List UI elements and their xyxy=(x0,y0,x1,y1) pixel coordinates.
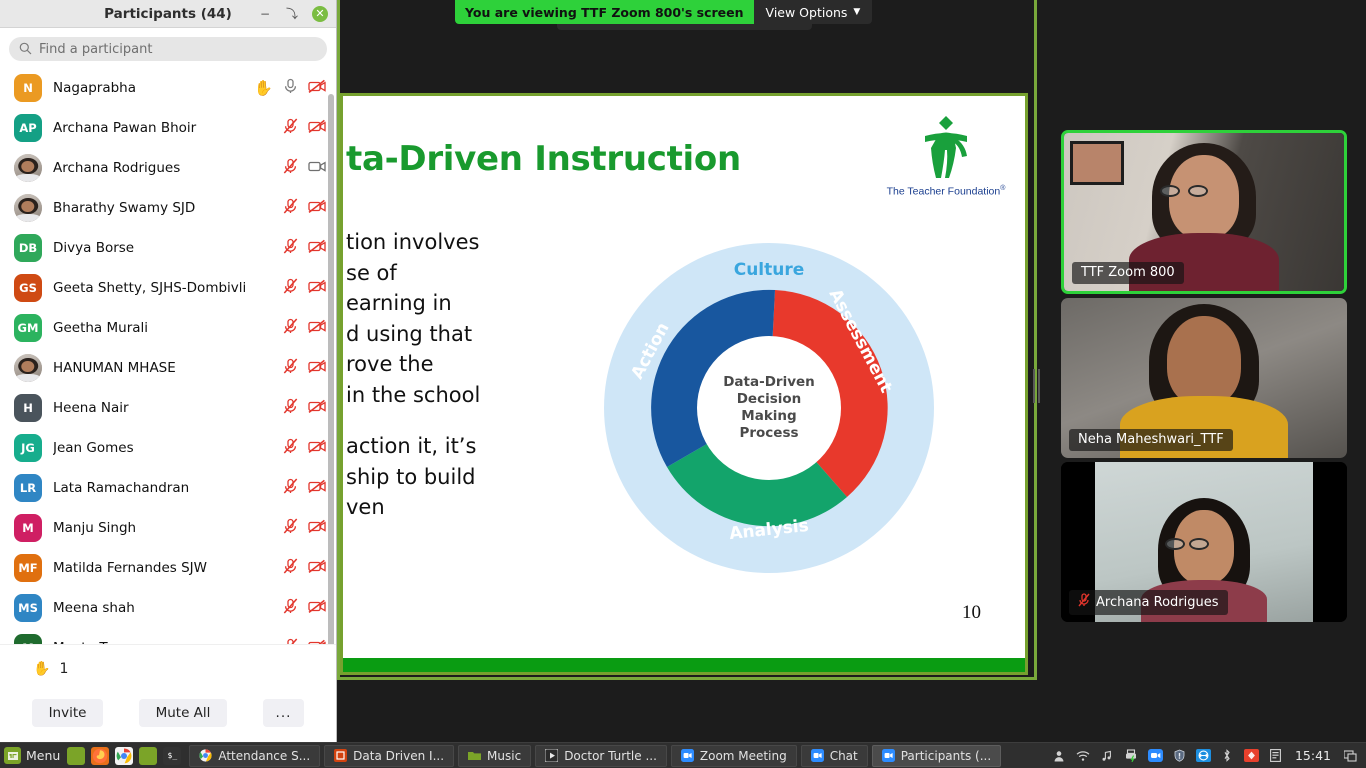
participant-status-icons xyxy=(283,238,326,258)
video-tile-archana-rodrigues[interactable]: Archana Rodrigues xyxy=(1061,462,1347,622)
taskbar-window-button[interactable]: Participants (... xyxy=(872,745,1001,767)
participant-row[interactable]: DBDivya Borse xyxy=(0,228,336,268)
files-icon[interactable] xyxy=(67,747,85,765)
camera-off-icon[interactable] xyxy=(308,119,326,138)
participant-row[interactable]: JGJean Gomes xyxy=(0,428,336,468)
camera-off-icon[interactable] xyxy=(308,279,326,298)
participant-name: Jean Gomes xyxy=(53,440,272,456)
participants-window: Participants (44) − ⤵ ✕ Find a participa… xyxy=(0,0,336,742)
avatar-photo xyxy=(14,154,42,182)
shared-slide: ta-Driven Instruction tion involves se o… xyxy=(340,93,1028,675)
player-icon xyxy=(545,749,558,762)
participant-status-icons xyxy=(283,558,326,578)
participant-row[interactable]: MSMeena shah xyxy=(0,588,336,628)
participant-status-icons xyxy=(283,398,326,418)
terminal-icon[interactable]: $_ xyxy=(163,747,181,765)
participant-status-icons: ✋ xyxy=(254,78,326,98)
avatar-initials: N xyxy=(14,74,42,102)
camera-icon[interactable] xyxy=(308,159,326,178)
video-tile-neha-maheshwari[interactable]: Neha Maheshwari_TTF xyxy=(1061,298,1347,458)
taskbar-window-button[interactable]: Chat xyxy=(801,745,868,767)
taskbar-window-button[interactable]: Attendance S... xyxy=(189,745,320,767)
more-options-button[interactable]: ... xyxy=(263,699,305,727)
restore-button[interactable]: ⤵ xyxy=(285,7,299,21)
participants-titlebar: Participants (44) − ⤵ ✕ xyxy=(0,0,336,28)
wifi-icon[interactable] xyxy=(1076,748,1091,763)
folder-icon[interactable] xyxy=(139,747,157,765)
mic-icon[interactable] xyxy=(283,78,298,98)
invite-button[interactable]: Invite xyxy=(32,699,104,727)
avatar-initials: M xyxy=(14,514,42,542)
music-note-icon[interactable] xyxy=(1100,748,1115,763)
camera-off-icon[interactable] xyxy=(308,79,326,98)
muted-mic-icon[interactable] xyxy=(283,638,298,644)
chrome-icon[interactable] xyxy=(115,747,133,765)
zoom-icon xyxy=(882,749,895,762)
taskbar-window-label: Chat xyxy=(830,749,858,763)
ttf-logo: The Teacher Foundation® xyxy=(866,114,1026,198)
shield-icon[interactable] xyxy=(1172,748,1187,763)
camera-off-icon[interactable] xyxy=(308,639,326,645)
center-line-4: Process xyxy=(739,425,798,442)
avatar-photo xyxy=(14,354,42,382)
teacher-foundation-mark-icon xyxy=(915,114,977,180)
participant-status-icons xyxy=(283,518,326,538)
screen-share-banner: You are viewing TTF Zoom 800's screen Vi… xyxy=(455,0,872,24)
participant-name: Nagaprabha xyxy=(53,80,243,96)
muted-mic-icon[interactable] xyxy=(283,158,298,178)
view-options-button[interactable]: View Options ▼ xyxy=(754,0,873,24)
camera-off-icon[interactable] xyxy=(308,439,326,458)
linux-mint-icon xyxy=(4,747,21,764)
participant-row[interactable]: HANUMAN MHASE xyxy=(0,348,336,388)
taskbar-window-label: Doctor Turtle ... xyxy=(564,749,657,763)
center-line-1: Data-Driven xyxy=(723,374,815,391)
tile-name: TTF Zoom 800 xyxy=(1081,265,1175,280)
participant-row[interactable]: HHeena Nair xyxy=(0,388,336,428)
camera-off-icon[interactable] xyxy=(308,479,326,498)
tile-name-badge: Archana Rodrigues xyxy=(1069,590,1228,615)
avatar-initials: LR xyxy=(14,474,42,502)
participant-name: HANUMAN MHASE xyxy=(53,360,272,376)
muted-mic-icon[interactable] xyxy=(283,358,298,378)
participant-row[interactable]: LRLata Ramachandran xyxy=(0,468,336,508)
taskbar-window-label: Attendance S... xyxy=(218,749,310,763)
avatar-initials: AP xyxy=(14,114,42,142)
ttf-logo-caption: The Teacher Foundation® xyxy=(866,185,1026,198)
muted-mic-icon[interactable] xyxy=(283,598,298,618)
camera-off-icon[interactable] xyxy=(308,519,326,538)
panel-drag-handle[interactable] xyxy=(1032,368,1040,404)
muted-mic-icon[interactable] xyxy=(283,398,298,418)
mute-all-button[interactable]: Mute All xyxy=(139,699,228,727)
taskbar-window-label: Participants (... xyxy=(901,749,991,763)
taskbar-window-button[interactable]: Zoom Meeting xyxy=(671,745,797,767)
diagram-center-text: Data-Driven Decision Making Process xyxy=(697,336,841,480)
muted-mic-icon xyxy=(1078,593,1090,611)
printer-icon[interactable] xyxy=(1124,748,1139,763)
participant-row[interactable]: Bharathy Swamy SJD xyxy=(0,188,336,228)
participant-name: Archana Rodrigues xyxy=(53,160,272,176)
slide-title: ta-Driven Instruction xyxy=(346,139,741,179)
camera-off-icon[interactable] xyxy=(308,239,326,258)
folder-icon xyxy=(468,749,481,762)
participant-row[interactable]: Archana Rodrigues xyxy=(0,148,336,188)
taskbar-window-list: Attendance S...Data Driven I...MusicDoct… xyxy=(189,745,1005,767)
taskbar-window-label: Music xyxy=(487,749,521,763)
taskbar-window-button[interactable]: Doctor Turtle ... xyxy=(535,745,667,767)
teamviewer-icon[interactable] xyxy=(1196,748,1211,763)
participant-list-scrollbar[interactable] xyxy=(328,94,334,644)
taskbar: Menu $_ Attendance S...Data Driven I...M… xyxy=(0,742,1366,768)
bluetooth-icon[interactable] xyxy=(1220,748,1235,763)
muted-mic-icon[interactable] xyxy=(283,518,298,538)
participant-name: Matilda Fernandes SJW xyxy=(53,560,272,576)
muted-mic-icon[interactable] xyxy=(283,278,298,298)
participant-name: Meena shah xyxy=(53,600,272,616)
search-placeholder: Find a participant xyxy=(39,42,152,57)
taskbar-window-button[interactable]: Data Driven I... xyxy=(324,745,454,767)
avatar-photo xyxy=(14,194,42,222)
view-options-label: View Options xyxy=(766,5,848,20)
participant-name: Meetu Tomar xyxy=(53,640,272,644)
camera-off-icon[interactable] xyxy=(308,199,326,218)
participant-status-icons xyxy=(283,478,326,498)
participant-status-icons xyxy=(283,598,326,618)
participant-name: Lata Ramachandran xyxy=(53,480,272,496)
participant-status-icons xyxy=(283,198,326,218)
camera-off-icon[interactable] xyxy=(308,319,326,338)
muted-mic-icon[interactable] xyxy=(283,438,298,458)
share-banner-message: You are viewing TTF Zoom 800's screen xyxy=(455,0,754,24)
raised-hand-icon: ✋ xyxy=(33,661,50,677)
muted-mic-icon[interactable] xyxy=(283,318,298,338)
taskbar-window-label: Zoom Meeting xyxy=(700,749,787,763)
participant-row[interactable]: MFMatilda Fernandes SJW xyxy=(0,548,336,588)
camera-off-icon[interactable] xyxy=(308,559,326,578)
participant-status-icons xyxy=(283,118,326,138)
tile-name-badge: Neha Maheshwari_TTF xyxy=(1069,429,1233,451)
close-button[interactable]: ✕ xyxy=(312,6,328,22)
avatar-initials: GS xyxy=(14,274,42,302)
participants-footer: Invite Mute All ... xyxy=(0,692,336,742)
video-tile-ttf-zoom-800[interactable]: TTF Zoom 800 xyxy=(1061,130,1347,294)
show-desktop-icon[interactable] xyxy=(1343,748,1358,763)
participant-row[interactable]: APArchana Pawan Bhoir xyxy=(0,108,336,148)
participant-status-icons xyxy=(283,318,326,338)
search-input[interactable]: Find a participant xyxy=(9,37,327,61)
zoom-camera-icon[interactable] xyxy=(1148,748,1163,763)
taskbar-clock[interactable]: 15:41 xyxy=(1292,748,1334,763)
raised-hand-icon: ✋ xyxy=(254,79,273,97)
tile-name-badge: TTF Zoom 800 xyxy=(1072,262,1184,284)
tile-name: Neha Maheshwari_TTF xyxy=(1078,432,1224,447)
taskbar-window-label: Data Driven I... xyxy=(353,749,444,763)
zoom-icon xyxy=(811,749,824,762)
participant-row[interactable]: GSGeeta Shetty, SJHS-Dombivli xyxy=(0,268,336,308)
avatar-initials: H xyxy=(14,394,42,422)
participant-row[interactable]: GMGeetha Murali xyxy=(0,308,336,348)
firefox-icon[interactable] xyxy=(91,747,109,765)
taskbar-window-button[interactable]: Music xyxy=(458,745,531,767)
participant-name: Geetha Murali xyxy=(53,320,272,336)
muted-mic-icon[interactable] xyxy=(283,118,298,138)
raised-hand-count: 1 xyxy=(59,661,68,677)
slide-page-number: 10 xyxy=(962,602,981,624)
avatar-initials: MS xyxy=(14,594,42,622)
notes-icon[interactable] xyxy=(1268,748,1283,763)
data-driven-cycle-diagram: Culture Assessment Analysis Action Data-… xyxy=(594,243,944,573)
avatar-initials: M xyxy=(14,634,42,644)
participant-name: Bharathy Swamy SJD xyxy=(53,200,272,216)
participant-name: Heena Nair xyxy=(53,400,272,416)
muted-mic-icon[interactable] xyxy=(283,558,298,578)
participant-row[interactable]: MManju Singh xyxy=(0,508,336,548)
participant-row[interactable]: MMeetu Tomar xyxy=(0,628,336,644)
chevron-down-icon: ▼ xyxy=(853,7,860,17)
muted-mic-icon[interactable] xyxy=(283,238,298,258)
participant-name: Divya Borse xyxy=(53,240,272,256)
taskbar-launchers: $_ xyxy=(67,747,189,765)
raised-hand-summary: ✋ 1 xyxy=(0,644,336,692)
participant-status-icons xyxy=(283,438,326,458)
avatar-initials: MF xyxy=(14,554,42,582)
participant-status-icons xyxy=(283,158,326,178)
keepassxc-icon[interactable] xyxy=(1244,748,1259,763)
center-line-3: Making xyxy=(741,408,796,425)
participant-name: Geeta Shetty, SJHS-Dombivli xyxy=(53,280,272,296)
participant-status-icons xyxy=(283,358,326,378)
center-line-2: Decision xyxy=(737,391,802,408)
camera-off-icon[interactable] xyxy=(308,359,326,378)
muted-mic-icon[interactable] xyxy=(283,198,298,218)
participant-status-icons xyxy=(283,278,326,298)
muted-mic-icon[interactable] xyxy=(283,478,298,498)
participant-list[interactable]: NNagaprabha✋APArchana Pawan BhoirArchana… xyxy=(0,68,336,644)
minimize-button[interactable]: − xyxy=(258,7,272,21)
diagram-label-culture: Culture xyxy=(734,260,805,280)
avatar-initials: GM xyxy=(14,314,42,342)
slide-bottom-bar xyxy=(343,658,1025,672)
participant-status-icons xyxy=(283,638,326,644)
system-tray: 15:41 xyxy=(1044,748,1366,763)
camera-off-icon[interactable] xyxy=(308,399,326,418)
participant-row[interactable]: NNagaprabha✋ xyxy=(0,68,336,108)
chrome-icon xyxy=(199,749,212,762)
start-menu-button[interactable]: Menu xyxy=(0,747,67,764)
search-icon xyxy=(19,40,32,59)
zoom-icon xyxy=(681,749,694,762)
avatar-initials: DB xyxy=(14,234,42,262)
camera-off-icon[interactable] xyxy=(308,599,326,618)
impress-icon xyxy=(334,749,347,762)
participant-search: Find a participant xyxy=(0,28,336,68)
participant-name: Manju Singh xyxy=(53,520,272,536)
tile-name: Archana Rodrigues xyxy=(1096,595,1219,610)
user-icon[interactable] xyxy=(1052,748,1067,763)
participant-name: Archana Pawan Bhoir xyxy=(53,120,272,136)
menu-label: Menu xyxy=(26,748,60,763)
avatar-initials: JG xyxy=(14,434,42,462)
